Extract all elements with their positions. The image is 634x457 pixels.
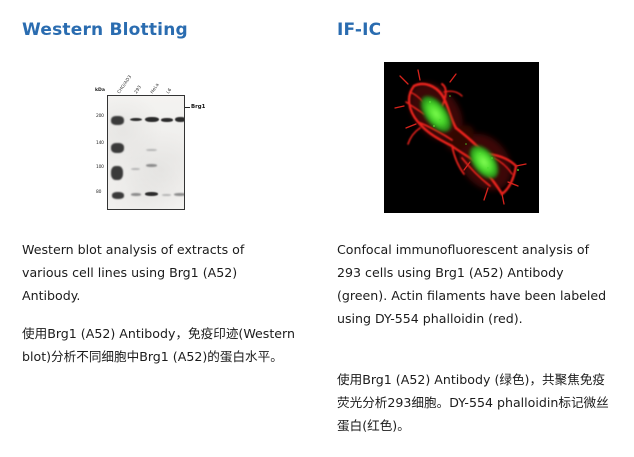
product-figures-page: Western Blotting kDa CHO/AD3 293 HeLa L6 [0,0,634,457]
caption-text: 使用Brg1 (A52) Antibody，免疫印迹(Western blot)… [22,322,300,368]
blot-band [145,117,159,122]
mw-marker-label: 100 [96,165,104,170]
caption-western-blot-chinese: 使用Brg1 (A52) Antibody，免疫印迹(Western blot)… [22,322,300,368]
blot-band-faint [146,164,157,167]
mw-marker-label: 140 [96,141,104,146]
if-ic-column: IF-IC [317,0,634,457]
blot-band [145,192,158,196]
blot-band-faint [162,194,171,196]
caption-text: 使用Brg1 (A52) Antibody (绿色)，共聚焦免疫荧光分析293细… [337,368,617,437]
confocal-image [384,62,539,213]
ladder-band [111,116,124,125]
mw-marker-label: 200 [96,114,104,119]
page-title-western-blotting: Western Blotting [22,20,188,40]
immunofluorescence-figure [384,62,539,213]
caption-if-ic-english: Confocal immunofluorescent analysis of 2… [337,238,613,330]
blot-band-faint [174,193,185,196]
ladder-band [111,143,124,153]
western-blot-figure: kDa CHO/AD3 293 HeLa L6 [95,62,210,212]
pointer-dash-icon [185,107,190,108]
kda-unit-label: kDa [95,88,105,93]
ladder-band [111,166,123,180]
blot-lane-label: L6 [166,88,173,95]
caption-text: Confocal immunofluorescent analysis of 2… [337,238,613,330]
brg1-label: Brg1 [191,104,205,110]
blot-band [175,117,185,122]
caption-western-blot-english: Western blot analysis of extracts of var… [22,238,294,307]
blot-band [161,118,173,122]
blot-membrane-panel [107,95,185,210]
page-title-if-ic: IF-IC [337,20,381,40]
caption-if-ic-chinese: 使用Brg1 (A52) Antibody (绿色)，共聚焦免疫荧光分析293细… [337,368,617,437]
blot-lane-label: 293 [134,85,143,95]
blot-lane-label: HeLa [150,83,161,95]
mw-marker-label: 80 [96,190,101,195]
blot-lane-label-group: CHO/AD3 293 HeLa L6 [113,62,193,95]
caption-text: Western blot analysis of extracts of var… [22,238,294,307]
blot-lane-label: CHO/AD3 [117,75,133,95]
ladder-band [112,192,124,199]
brg1-band-annotation: Brg1 [185,104,205,110]
blot-band-faint [131,193,141,196]
western-blotting-column: Western Blotting kDa CHO/AD3 293 HeLa L6 [0,0,317,457]
